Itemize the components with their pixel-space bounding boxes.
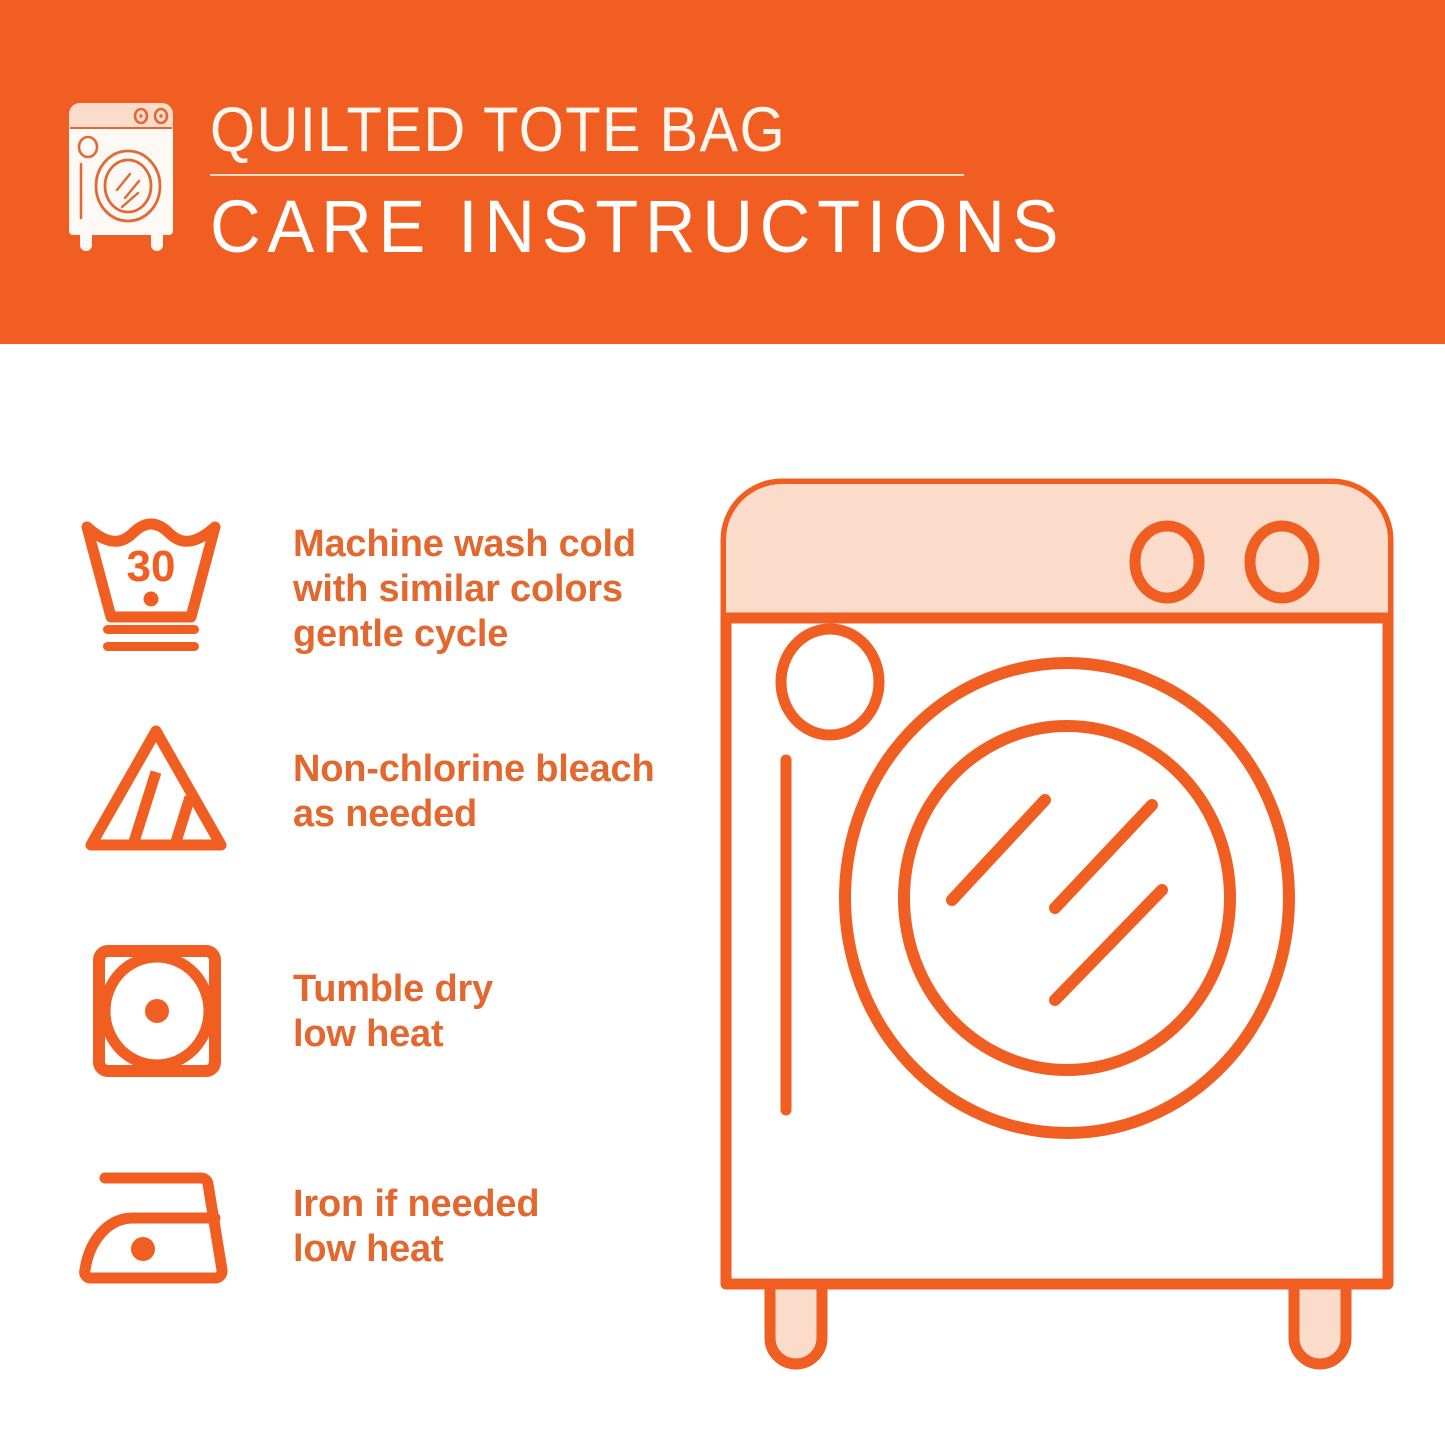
care-text-line: gentle cycle — [293, 612, 700, 657]
care-item-text: Iron if needed low heat — [293, 1182, 700, 1272]
product-title: QUILTED TOTE BAG — [210, 96, 1038, 164]
care-item-iron: Iron if needed low heat — [0, 1139, 700, 1314]
care-item-machine-wash: 30 Machine wash cold with similar colors… — [0, 494, 700, 684]
care-text-line: Machine wash cold — [293, 522, 700, 567]
care-instructions-infographic: QUILTED TOTE BAG CARE INSTRUCTIONS 30 — [0, 0, 1445, 1445]
care-text-line: with similar colors — [293, 567, 700, 612]
tumble-dry-low-icon — [68, 937, 243, 1087]
header-band: QUILTED TOTE BAG CARE INSTRUCTIONS — [0, 0, 1445, 344]
care-item-text: Machine wash cold with similar colors ge… — [293, 522, 700, 657]
care-item-tumble-dry: Tumble dry low heat — [0, 924, 700, 1099]
section-title: CARE INSTRUCTIONS — [210, 188, 1065, 266]
wash-tub-30-gentle-icon: 30 — [68, 509, 243, 669]
non-chlorine-bleach-triangle-icon — [68, 717, 243, 867]
care-text-line: low heat — [293, 1227, 700, 1272]
care-item-text: Non-chlorine bleach as needed — [293, 747, 700, 837]
care-text-line: as needed — [293, 792, 700, 837]
header-content: QUILTED TOTE BAG CARE INSTRUCTIONS — [62, 96, 1062, 266]
header-titles: QUILTED TOTE BAG CARE INSTRUCTIONS — [210, 96, 1110, 266]
care-instructions-list: 30 Machine wash cold with similar colors… — [0, 344, 700, 1445]
title-divider — [210, 174, 964, 176]
care-text-line: low heat — [293, 1012, 700, 1057]
iron-low-heat-icon — [68, 1152, 243, 1302]
care-text-line: Non-chlorine bleach — [293, 747, 700, 792]
care-item-bleach: Non-chlorine bleach as needed — [0, 704, 700, 879]
washing-machine-illustration — [712, 470, 1402, 1380]
washing-machine-icon — [62, 100, 180, 252]
svg-text:30: 30 — [126, 542, 175, 591]
care-text-line: Tumble dry — [293, 967, 700, 1012]
care-text-line: Iron if needed — [293, 1182, 700, 1227]
care-item-text: Tumble dry low heat — [293, 967, 700, 1057]
